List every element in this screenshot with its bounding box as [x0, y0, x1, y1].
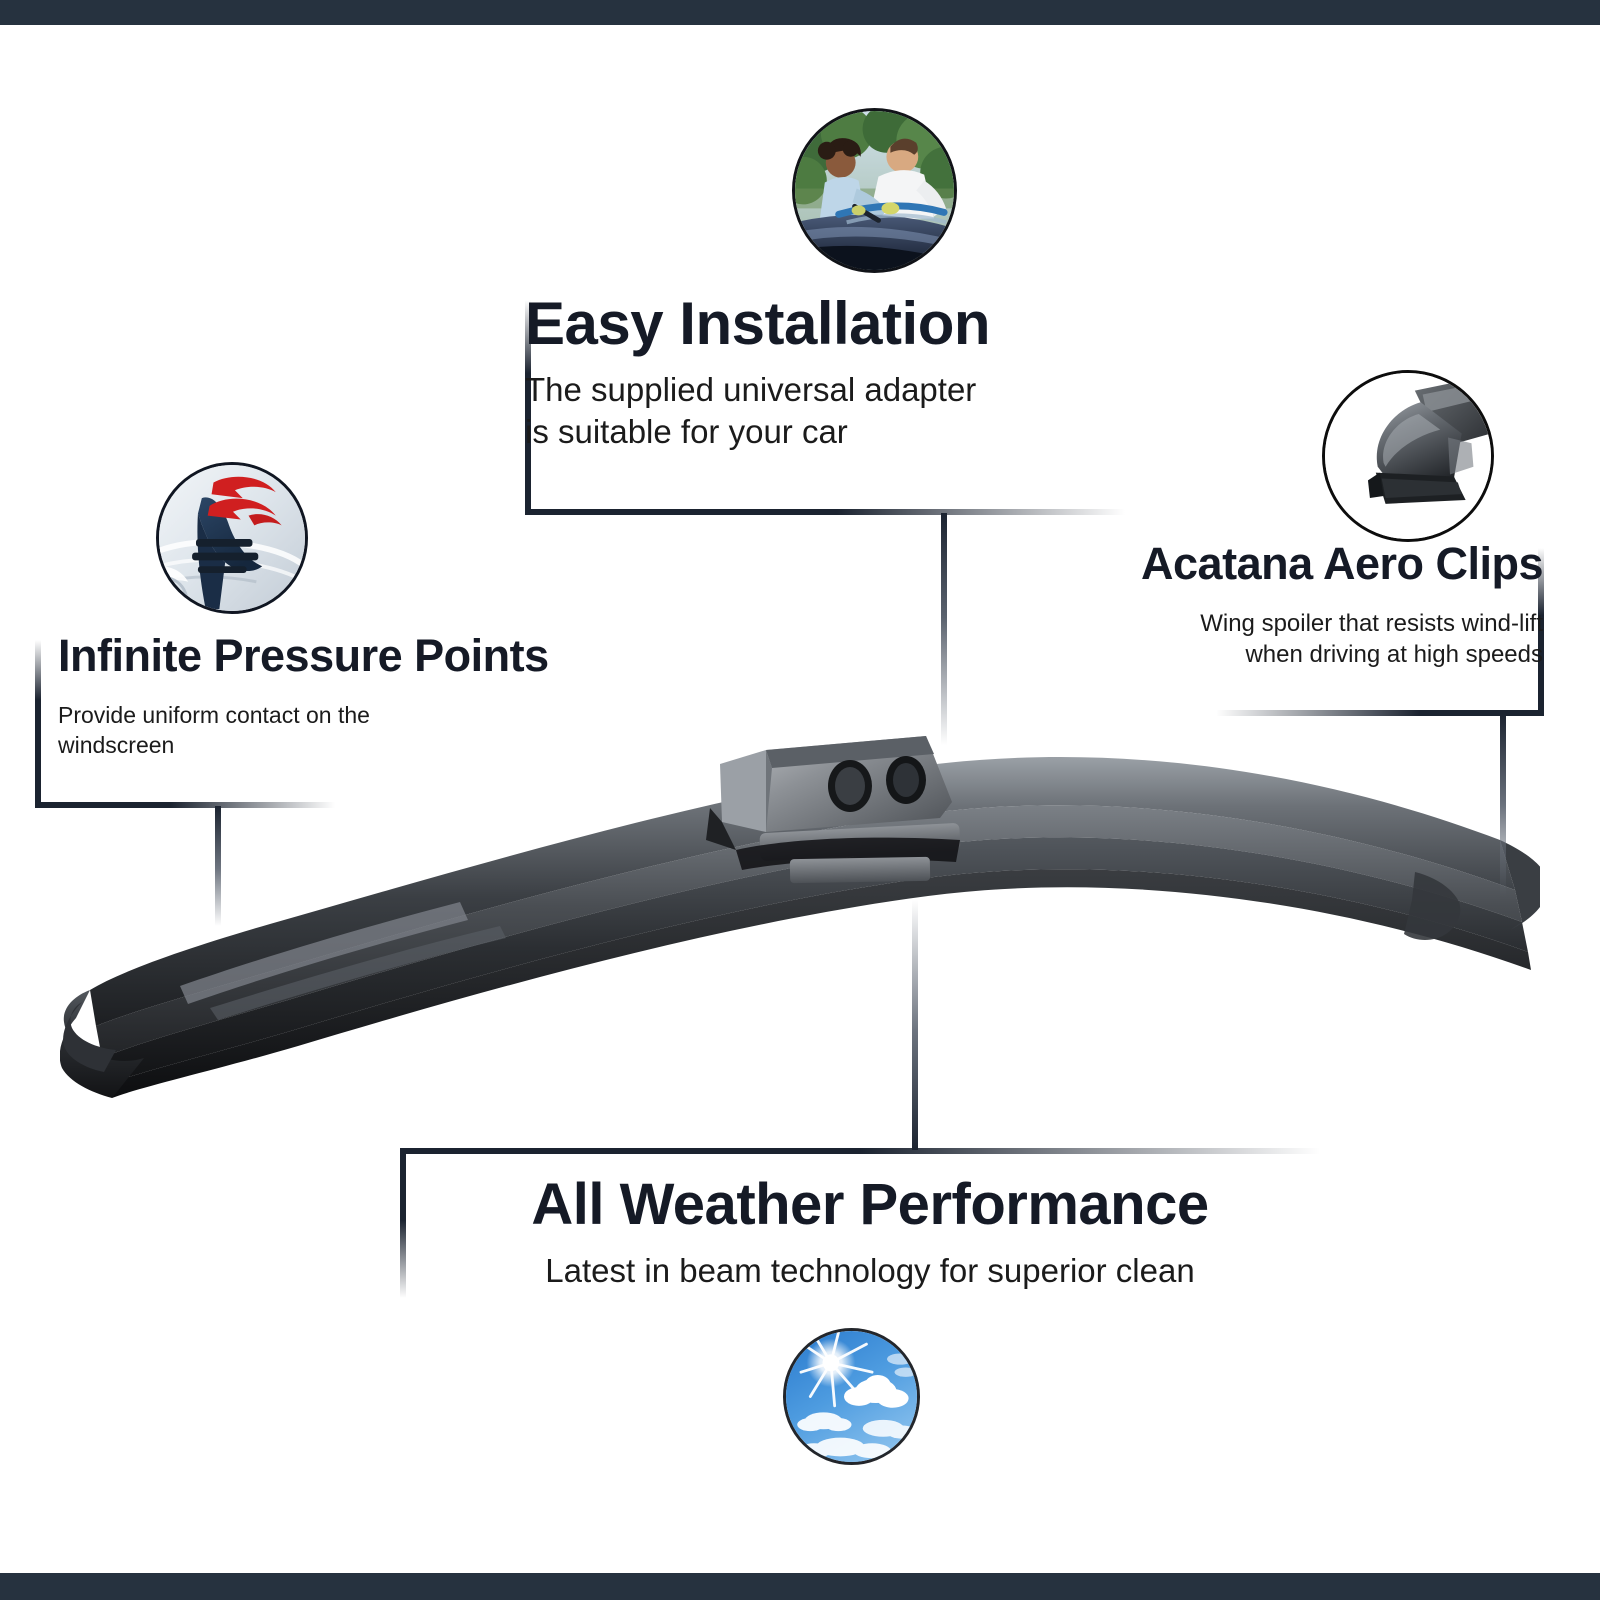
pressure-points-description-line-2: windscreen: [58, 731, 658, 760]
pressure-points-description: Provide uniform contact on the windscree…: [58, 701, 658, 760]
pressure-points-bottom-rule: [35, 802, 335, 808]
all-weather-left-rule: [400, 1148, 406, 1298]
aero-clips-description-line-2: when driving at high speeds: [1035, 640, 1543, 671]
aero-clips-bottom-rule: [1216, 710, 1544, 716]
bottom-accent-bar: [0, 1573, 1600, 1600]
all-weather-description: Latest in beam technology for superior c…: [425, 1250, 1315, 1292]
pressure-points-connector-line: [215, 806, 221, 926]
callout-acatana-aero-clips: Acatana Aero Clips Wing spoiler that res…: [1035, 540, 1543, 671]
easy-installation-description: The supplied universal adapter is suitab…: [525, 369, 1125, 453]
top-accent-bar: [0, 0, 1600, 25]
easy-installation-title: Easy Installation: [525, 292, 1125, 355]
easy-installation-description-line-2: is suitable for your car: [525, 411, 1125, 453]
aero-clip-photo-icon: [1322, 370, 1494, 542]
callout-infinite-pressure-points: Infinite Pressure Points Provide uniform…: [58, 632, 658, 760]
pressure-points-description-line-1: Provide uniform contact on the: [58, 701, 658, 730]
easy-installation-description-line-1: The supplied universal adapter: [525, 369, 1125, 411]
all-weather-connector-line: [912, 900, 918, 1150]
aero-clips-description: Wing spoiler that resists wind-lift when…: [1035, 609, 1543, 670]
aero-clips-description-line-1: Wing spoiler that resists wind-lift: [1035, 609, 1543, 640]
callout-easy-installation: Easy Installation The supplied universal…: [525, 292, 1125, 453]
infographic-canvas: Easy Installation The supplied universal…: [0, 0, 1600, 1600]
all-weather-top-rule: [400, 1148, 1320, 1154]
easy-installation-connector-line: [941, 513, 947, 745]
pressure-points-title: Infinite Pressure Points: [58, 632, 658, 679]
aero-clips-title: Acatana Aero Clips: [1035, 540, 1543, 587]
easy-installation-bottom-rule: [525, 509, 1125, 515]
all-weather-sky-photo-icon: [783, 1328, 920, 1465]
pressure-points-left-rule: [35, 640, 41, 806]
all-weather-title: All Weather Performance: [425, 1175, 1315, 1236]
easy-installation-photo-icon: [792, 108, 957, 273]
pressure-points-graphic-icon: [156, 462, 308, 614]
aero-clips-connector-line: [1500, 714, 1506, 896]
callout-all-weather-performance: All Weather Performance Latest in beam t…: [425, 1175, 1315, 1292]
